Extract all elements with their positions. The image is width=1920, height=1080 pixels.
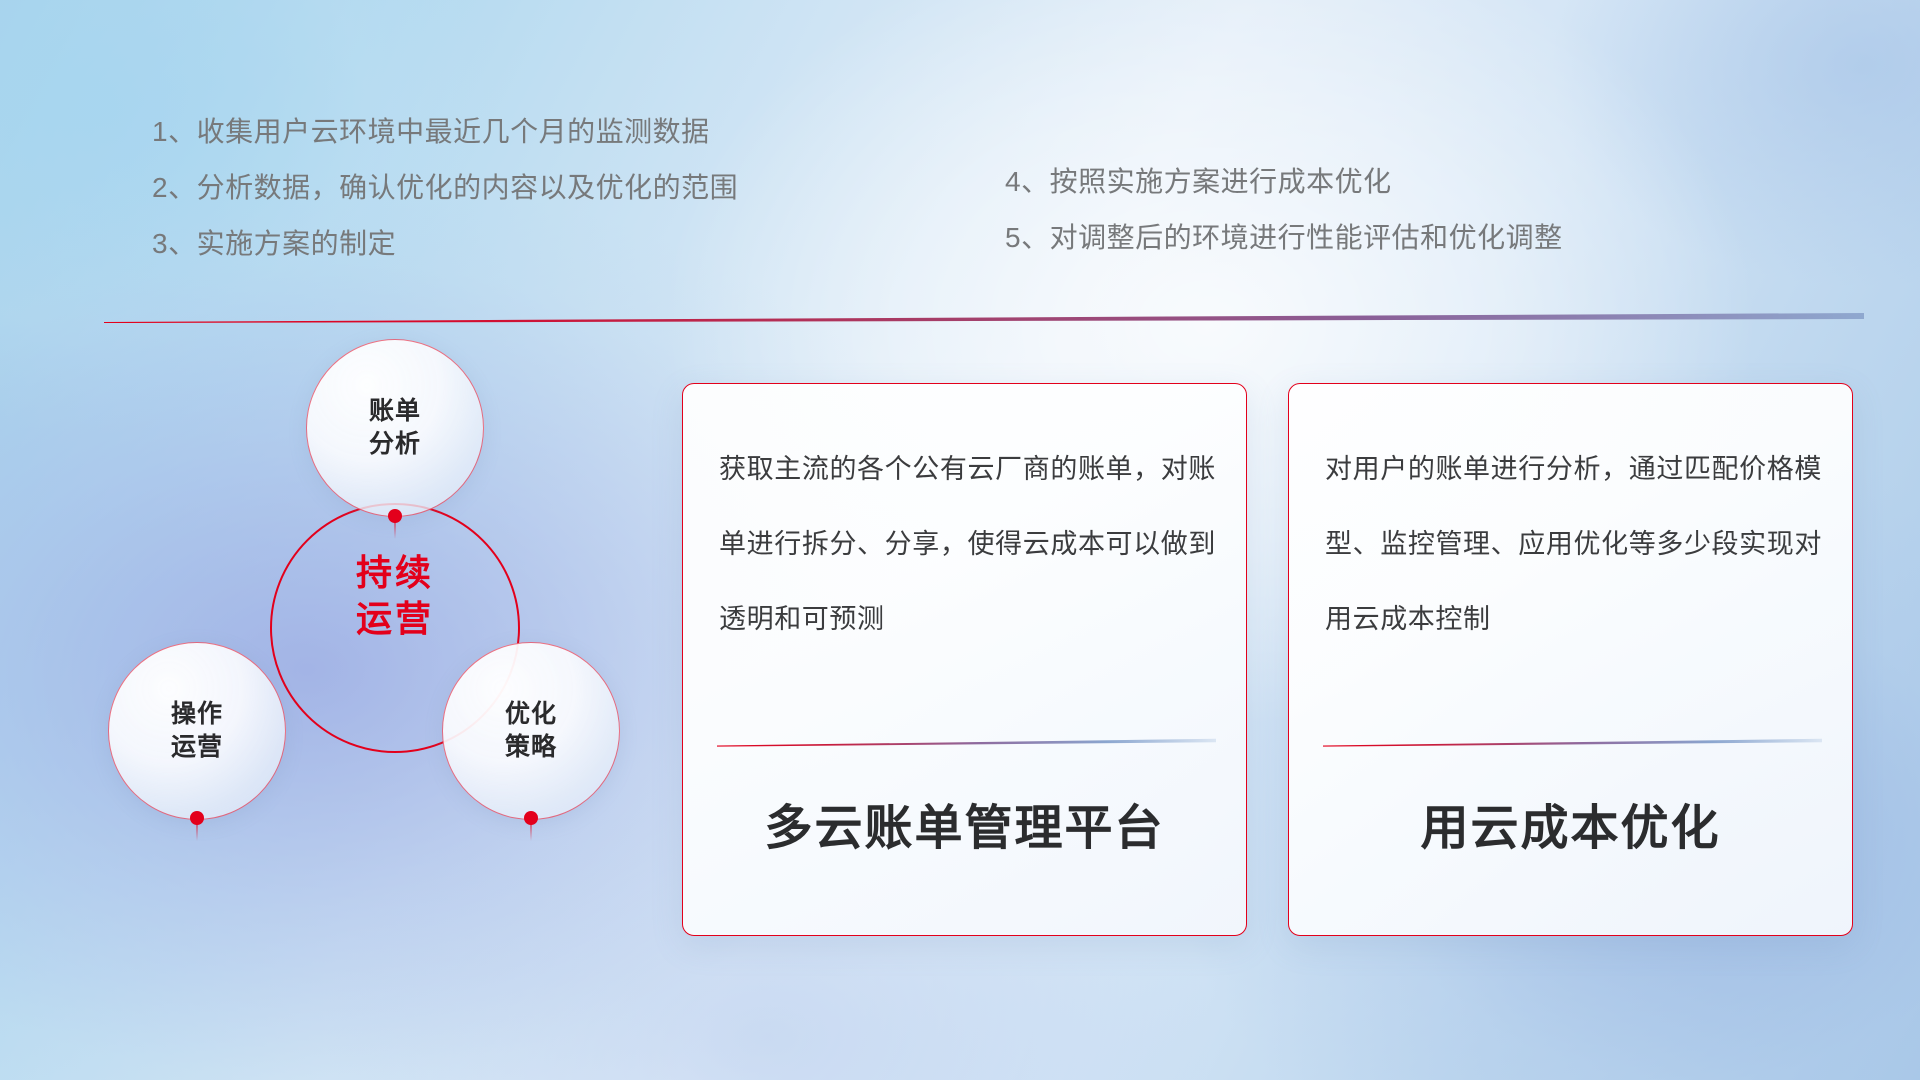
step-item-1: 1、收集用户云环境中最近几个月的监测数据: [152, 104, 738, 160]
card-divider-shape-icon: [717, 738, 1216, 747]
steps-left-column: 1、收集用户云环境中最近几个月的监测数据 2、分析数据，确认优化的内容以及优化的…: [152, 104, 738, 272]
connector-tail-bottom-right: [530, 823, 532, 841]
card-2-title: 用云成本优化: [1289, 788, 1852, 858]
divider-shape-icon: [104, 312, 1864, 324]
card-divider-shape-icon: [1323, 738, 1822, 747]
bubble-operations[interactable]: 操作 运营: [108, 642, 286, 820]
step-item-4: 4、按照实施方案进行成本优化: [1005, 154, 1563, 210]
bubble-billing-analysis-line-1: 账单: [369, 395, 421, 428]
center-label: 持续 运营: [270, 550, 520, 642]
card-1-body: 获取主流的各个公有云厂商的账单，对账单进行拆分、分享，使得云成本可以做到透明和可…: [719, 432, 1216, 657]
step-item-2: 2、分析数据，确认优化的内容以及优化的范围: [152, 160, 738, 216]
card-2-body: 对用户的账单进行分析，通过匹配价格模型、监控管理、应用优化等多少段实现对用云成本…: [1325, 432, 1822, 657]
connector-tail-top: [394, 521, 396, 539]
center-label-line-1: 持续: [270, 550, 520, 596]
card-cloud-cost-optimization[interactable]: 对用户的账单进行分析，通过匹配价格模型、监控管理、应用优化等多少段实现对用云成本…: [1288, 383, 1853, 936]
card-2-divider: [1323, 738, 1822, 747]
card-1-divider: [717, 738, 1216, 747]
center-label-line-2: 运营: [270, 596, 520, 642]
bubble-operations-line-2: 运营: [171, 731, 223, 764]
continuous-operation-diagram: 持续 运营 账单 分析 操作 运营 优化 策略: [100, 345, 640, 945]
bubble-billing-analysis[interactable]: 账单 分析: [306, 339, 484, 517]
bubble-optimization-strategy[interactable]: 优化 策略: [442, 642, 620, 820]
card-multi-cloud-billing-platform[interactable]: 获取主流的各个公有云厂商的账单，对账单进行拆分、分享，使得云成本可以做到透明和可…: [682, 383, 1247, 936]
connector-dot-bottom-left: [190, 811, 204, 825]
bubble-optimization-strategy-line-1: 优化: [505, 698, 557, 731]
section-divider: [104, 312, 1864, 324]
bubble-billing-analysis-line-2: 分析: [369, 428, 421, 461]
slide-root: 1、收集用户云环境中最近几个月的监测数据 2、分析数据，确认优化的内容以及优化的…: [0, 0, 1920, 1080]
step-item-3: 3、实施方案的制定: [152, 216, 738, 272]
connector-tail-bottom-left: [196, 823, 198, 841]
steps-right-column: 4、按照实施方案进行成本优化 5、对调整后的环境进行性能评估和优化调整: [1005, 154, 1563, 266]
bubble-operations-line-1: 操作: [171, 698, 223, 731]
connector-dot-top: [388, 509, 402, 523]
connector-dot-bottom-right: [524, 811, 538, 825]
card-1-title: 多云账单管理平台: [683, 788, 1246, 858]
bubble-optimization-strategy-line-2: 策略: [505, 731, 557, 764]
step-item-5: 5、对调整后的环境进行性能评估和优化调整: [1005, 210, 1563, 266]
